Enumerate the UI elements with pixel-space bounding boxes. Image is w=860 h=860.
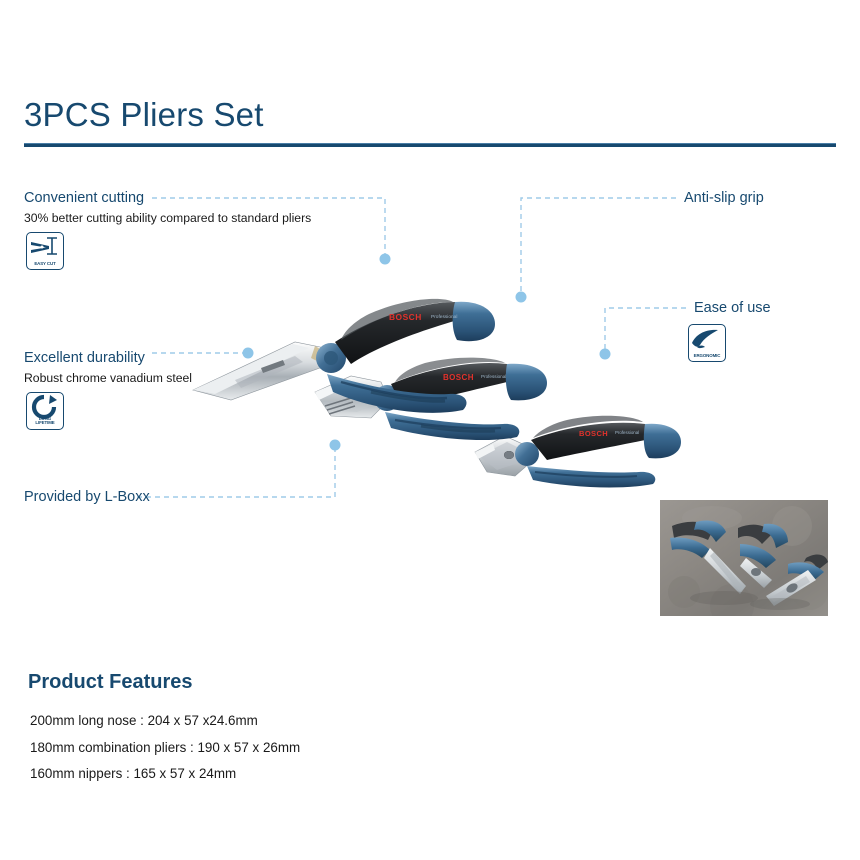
callout-heading-ease-of-use: Ease of use (694, 300, 771, 316)
badge-caption-long-lifetime: LONG LIFETIME (27, 417, 63, 427)
svg-text:Professional: Professional (431, 314, 457, 320)
page-title: 3PCS Pliers Set (24, 96, 264, 134)
callout-heading-excellent-durability: Excellent durability (24, 350, 145, 366)
svg-text:BOSCH: BOSCH (579, 429, 608, 438)
badge-easy-cut: EASY CUT (26, 232, 64, 270)
long-nose-pliers: BOSCH Professional (193, 299, 495, 413)
feature-line-nippers: 160mm nippers : 165 x 57 x 24mm (30, 766, 236, 781)
title-divider (24, 143, 836, 147)
callout-heading-convenient-cutting: Convenient cutting (24, 190, 144, 206)
callout-subtext-convenient-cutting: 30% better cutting ability compared to s… (24, 211, 311, 225)
product-features-title: Product Features (28, 671, 192, 694)
badge-caption-long-lifetime-line2: LIFETIME (35, 420, 54, 425)
svg-text:Professional: Professional (615, 430, 639, 435)
svg-text:Professional: Professional (481, 374, 506, 379)
callout-heading-provided-by-lboxx: Provided by L-Boxx (24, 489, 150, 505)
callout-heading-anti-slip-grip: Anti-slip grip (684, 190, 764, 206)
badge-caption-easy-cut: EASY CUT (27, 262, 63, 267)
callout-subtext-excellent-durability: Robust chrome vanadium steel (24, 371, 192, 385)
product-infographic-page: 3PCS Pliers Set Convenient cutting 30% b… (0, 0, 860, 860)
svg-text:BOSCH: BOSCH (443, 373, 474, 382)
badge-long-lifetime: LONG LIFETIME (26, 392, 64, 430)
feature-line-long-nose: 200mm long nose : 204 x 57 x24.6mm (30, 713, 258, 728)
product-hero-image: BOSCH Professional (175, 240, 695, 505)
svg-text:BOSCH: BOSCH (389, 312, 422, 322)
feature-line-combination-pliers: 180mm combination pliers : 190 x 57 x 26… (30, 740, 300, 755)
inset-product-photo (660, 500, 828, 616)
